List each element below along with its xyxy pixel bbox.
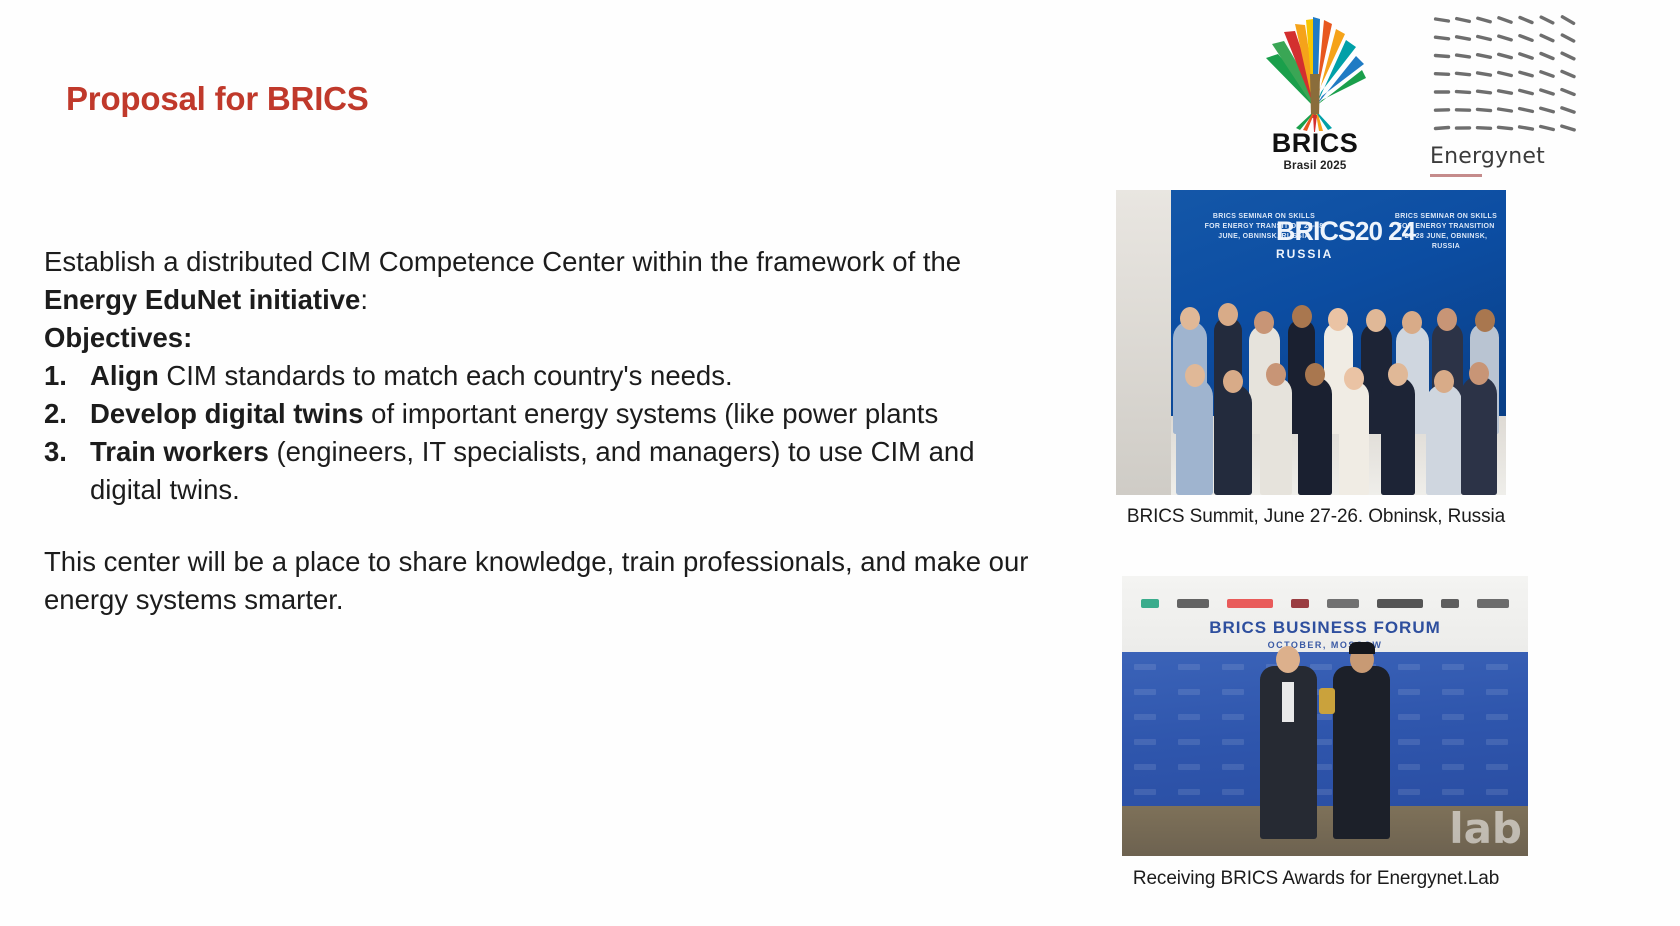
photo2-backdrop-tiles: [1122, 652, 1528, 806]
intro-bold-phrase: Energy EduNet initiative: [44, 284, 360, 315]
photo1-backdrop-country: RUSSIA: [1276, 248, 1415, 260]
sponsor-logo: [1141, 599, 1159, 608]
person-head: [1475, 309, 1495, 332]
person-head: [1254, 311, 1274, 334]
energynet-dash-grid-icon: [1430, 10, 1580, 138]
photo2-watermark: lab: [1449, 808, 1522, 850]
person-head: [1180, 307, 1200, 330]
person-head: [1305, 363, 1325, 386]
person-silhouette: [1381, 377, 1415, 495]
photo1-backdrop-year: 20 24: [1355, 216, 1415, 246]
photo2-banner-title: BRICS BUSINESS FORUM: [1122, 618, 1528, 638]
person-head: [1388, 363, 1408, 386]
photo1-backdrop-logo: BRICS20 24 RUSSIA: [1276, 218, 1415, 260]
list-item-lead: Train workers: [90, 436, 269, 467]
sponsor-logo: [1327, 599, 1359, 608]
photo1-wall: [1116, 190, 1176, 495]
person-head: [1223, 370, 1243, 393]
energynet-logo: Energynet: [1430, 10, 1605, 177]
objectives-list: 1.Align CIM standards to match each coun…: [44, 357, 1034, 509]
slide-canvas: Proposal for BRICS Establish a distribut…: [0, 0, 1680, 926]
brics-wordmark: BRICS: [1250, 130, 1380, 157]
energynet-underline: [1430, 174, 1482, 177]
person-head: [1185, 364, 1205, 387]
page-title: Proposal for BRICS: [66, 80, 369, 118]
list-item-number: 2.: [44, 395, 67, 433]
photo2-sponsor-logos: [1132, 596, 1518, 610]
person-head: [1437, 308, 1457, 331]
sponsor-logo: [1291, 599, 1309, 608]
person-head: [1402, 311, 1422, 334]
person-silhouette: [1426, 384, 1462, 495]
person-head: [1344, 367, 1364, 390]
person-silhouette: [1461, 376, 1497, 495]
logo-area: BRICS Brasil 2025 Energynet: [1240, 0, 1680, 190]
brics-logo: BRICS Brasil 2025: [1250, 14, 1380, 174]
photo-column: BRICS SEMINAR ON SKILLS FOR ENERGY TRANS…: [1116, 190, 1516, 890]
person-silhouette: [1176, 378, 1212, 495]
list-item-number: 1.: [44, 357, 67, 395]
list-item-text: of important energy systems (like power …: [364, 398, 939, 429]
person-head: [1266, 363, 1286, 386]
list-item: 2.Develop digital twins of important ene…: [44, 395, 1034, 433]
objectives-label: Objectives:: [44, 319, 1034, 357]
photo1-caption: BRICS Summit, June 27-26. Obninsk, Russi…: [1116, 495, 1516, 528]
intro-paragraph: Establish a distributed CIM Competence C…: [44, 243, 1034, 319]
person-silhouette: [1339, 381, 1369, 495]
person-cap: [1349, 642, 1375, 654]
photo1-backdrop-brics: BRICS: [1276, 216, 1355, 246]
award-trophy: [1319, 688, 1335, 714]
brics-summit-group-photo: BRICS SEMINAR ON SKILLS FOR ENERGY TRANS…: [1116, 190, 1506, 495]
person-award-right: [1333, 666, 1390, 840]
photo2-caption: Receiving BRICS Awards for Energynet.Lab: [1116, 856, 1516, 890]
person-head: [1328, 308, 1348, 331]
brics-tree-icon: [1250, 14, 1380, 132]
person-head: [1366, 309, 1386, 332]
brics-business-forum-award-photo: BRICS BUSINESS FORUM OCTOBER, MOSCOW lab: [1122, 576, 1528, 856]
brics-subtitle: Brasil 2025: [1250, 160, 1380, 172]
energynet-wordmark: Energynet: [1430, 144, 1605, 169]
list-item: 1.Align CIM standards to match each coun…: [44, 357, 1034, 395]
sponsor-logo: [1377, 599, 1423, 608]
person-head: [1434, 370, 1454, 393]
list-item-number: 3.: [44, 433, 67, 471]
sponsor-logo: [1227, 599, 1273, 608]
person-silhouette: [1214, 384, 1252, 495]
person-silhouette: [1260, 377, 1291, 495]
list-item-text: CIM standards to match each country's ne…: [159, 360, 733, 391]
list-item: 3.Train workers (engineers, IT specialis…: [44, 433, 1034, 509]
person-head: [1292, 305, 1312, 328]
person-head: [1218, 303, 1238, 326]
list-item-lead: Align: [90, 360, 159, 391]
photo2-banner-subtitle: OCTOBER, MOSCOW: [1122, 640, 1528, 650]
person-award-left: [1260, 666, 1317, 840]
slide-body: Establish a distributed CIM Competence C…: [44, 243, 1034, 619]
list-item-lead: Develop digital twins: [90, 398, 364, 429]
person-head: [1469, 362, 1489, 385]
intro-text-part1: Establish a distributed CIM Competence C…: [44, 246, 961, 277]
closing-paragraph: This center will be a place to share kno…: [44, 509, 1034, 619]
intro-text-part2: :: [360, 284, 368, 315]
person-shirt: [1282, 682, 1294, 722]
photo1-front-row: [1174, 367, 1506, 495]
person-head: [1276, 646, 1300, 673]
sponsor-logo: [1177, 599, 1209, 608]
sponsor-logo: [1477, 599, 1509, 608]
sponsor-logo: [1441, 599, 1459, 608]
person-silhouette: [1298, 377, 1332, 495]
